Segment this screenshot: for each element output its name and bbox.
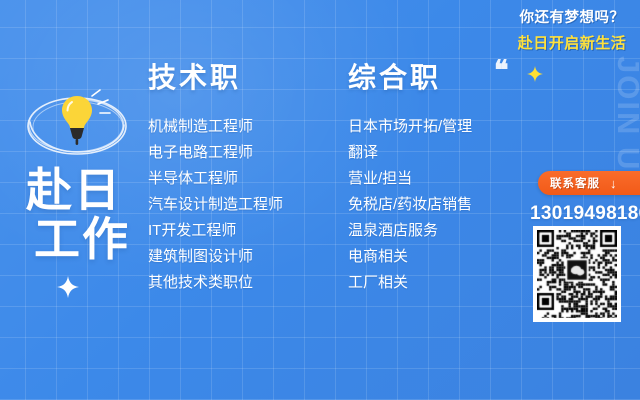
list-item: 翻译 (348, 140, 472, 166)
list-item: 电子电路工程师 (148, 140, 283, 166)
list-item: 建筑制图设计师 (148, 244, 283, 270)
star-icon (527, 66, 543, 82)
list-item: 温泉酒店服务 (348, 218, 472, 244)
join-us-watermark: JOIN U (613, 56, 640, 171)
job-column-tech: 技术职 机械制造工程师 电子电路工程师 半导体工程师 汽车设计制造工程师 IT开… (148, 62, 283, 296)
contact-support-button[interactable]: 联系客服 ↓ (538, 171, 640, 195)
list-item: 汽车设计制造工程师 (148, 192, 283, 218)
headline-line-1: 你还有梦想吗？ (506, 6, 638, 27)
list-item: 工厂相关 (348, 270, 472, 296)
qr-code[interactable] (533, 226, 621, 322)
quote-mark-icon: ❝ (494, 57, 509, 84)
phone-number[interactable]: 13019498186 (530, 203, 640, 225)
list-item: 其他技术类职位 (148, 270, 283, 296)
page-title: 赴日 工作 (26, 166, 130, 264)
page-title-line-2: 工作 (26, 215, 130, 264)
job-list-general: 日本市场开拓/管理 翻译 营业/担当 免税店/药妆店销售 温泉酒店服务 电商相关… (348, 114, 472, 296)
headline-line-2: 赴日开启新生活 (506, 32, 638, 53)
list-item: 半导体工程师 (148, 166, 283, 192)
lightbulb-illustration (22, 82, 132, 166)
headline-block: 你还有梦想吗？ 赴日开启新生活 (506, 6, 638, 53)
list-item: 机械制造工程师 (148, 114, 283, 140)
sparkle-icon (57, 276, 79, 298)
list-item: 免税店/药妆店销售 (348, 192, 472, 218)
job-list-tech: 机械制造工程师 电子电路工程师 半导体工程师 汽车设计制造工程师 IT开发工程师… (148, 114, 283, 296)
poster-canvas: JOIN U 你还有梦想吗？ 赴日开启新生活 ❝ (0, 0, 640, 400)
list-item: 电商相关 (348, 244, 472, 270)
list-item: 日本市场开拓/管理 (348, 114, 472, 140)
column-heading-tech: 技术职 (148, 62, 283, 94)
page-title-line-1: 赴日 (26, 166, 130, 215)
list-item: 营业/担当 (348, 166, 472, 192)
contact-support-label: 联系客服 (550, 175, 600, 191)
job-column-general: 综合职 日本市场开拓/管理 翻译 营业/担当 免税店/药妆店销售 温泉酒店服务 … (348, 62, 472, 296)
column-heading-general: 综合职 (348, 62, 472, 94)
list-item: IT开发工程师 (148, 218, 283, 244)
lightbulb-icon (22, 82, 132, 166)
arrow-down-icon: ↓ (610, 177, 617, 190)
